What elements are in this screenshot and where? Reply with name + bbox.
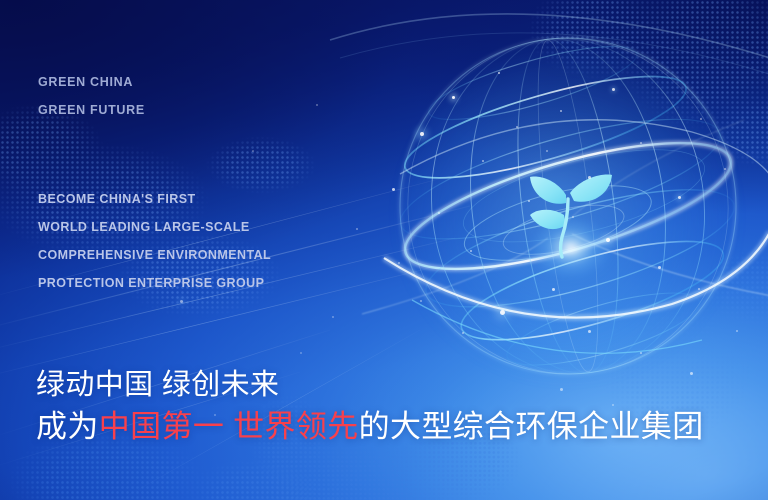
headline-prefix: 成为: [36, 409, 99, 444]
tagline-english: GREEN CHINA GREEN FUTURE: [38, 68, 145, 124]
tagline-line-2: GREEN FUTURE: [38, 96, 145, 124]
mission-line-1: BECOME CHINA'S FIRST: [38, 185, 271, 213]
mission-line-4: PROTECTION ENTERPRISE GROUP: [38, 269, 271, 297]
mission-line-2: WORLD LEADING LARGE-SCALE: [38, 213, 271, 241]
tagline-line-1: GREEN CHINA: [38, 68, 145, 96]
headline-line-1: 绿动中国 绿创未来: [36, 364, 704, 406]
headline-highlight: 中国第一 世界领先: [99, 409, 359, 444]
green-sprout-icon: [522, 163, 614, 259]
headline-suffix: 的大型综合环保企业集团: [359, 409, 704, 444]
mission-statement-english: BECOME CHINA'S FIRST WORLD LEADING LARGE…: [38, 185, 271, 297]
hero-banner: GREEN CHINA GREEN FUTURE BECOME CHINA'S …: [0, 0, 768, 500]
headline-line-2: 成为中国第一 世界领先的大型综合环保企业集团: [36, 406, 704, 448]
headline-chinese: 绿动中国 绿创未来 成为中国第一 世界领先的大型综合环保企业集团: [36, 364, 704, 448]
mission-line-3: COMPREHENSIVE ENVIRONMENTAL: [38, 241, 271, 269]
